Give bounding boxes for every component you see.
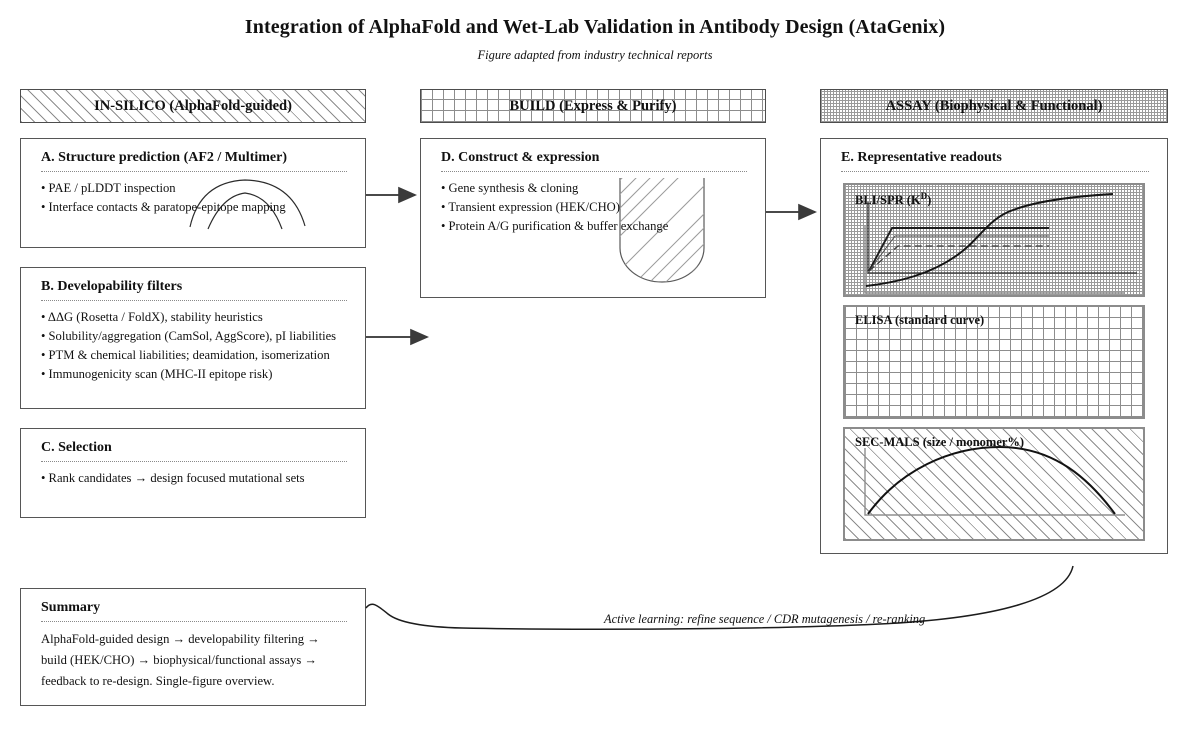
panel-a-title: A. Structure prediction (AF2 / Multimer) — [41, 150, 287, 166]
panel-c-bullet-0: • Rank candidates → design focused mutat… — [41, 469, 305, 488]
panel-a-bullet-1: • Interface contacts & paratope-epitope … — [41, 198, 286, 217]
panel-c-divider — [41, 461, 347, 462]
column-header-assay-label: ASSAY (Biophysical & Functional) — [882, 98, 1107, 115]
column-header-in-silico: IN-SILICO (AlphaFold-guided) — [20, 89, 366, 123]
panel-d-bullet-list: • Gene synthesis & cloning • Transient e… — [441, 179, 668, 236]
panel-e-representative-readouts: E. Representative readouts BLI/SPR (KD) … — [820, 138, 1168, 554]
figure-subtitle: Figure adapted from industry technical r… — [0, 48, 1190, 63]
readout-sec-mals-title: SEC-MALS (size / monomer%) — [855, 435, 1024, 450]
panel-summary-divider — [41, 621, 347, 622]
panel-b-bullet-list: • ΔΔG (Rosetta / FoldX), stability heuri… — [41, 308, 336, 384]
column-header-in-silico-label: IN-SILICO (AlphaFold-guided) — [90, 98, 296, 115]
panel-a-divider — [41, 171, 347, 172]
readout-bli-spr-title: BLI/SPR (KD) — [855, 191, 931, 208]
panel-summary-text: AlphaFold-guided design → developability… — [41, 629, 320, 692]
panel-summary-line-2: feedback to re-design. Single-figure ove… — [41, 671, 320, 692]
panel-b-title: B. Developability filters — [41, 279, 182, 295]
column-header-build-label: BUILD (Express & Purify) — [506, 98, 681, 115]
column-header-build: BUILD (Express & Purify) — [420, 89, 766, 123]
panel-d-title: D. Construct & expression — [441, 150, 599, 166]
panel-b-bullet-0: • ΔΔG (Rosetta / FoldX), stability heuri… — [41, 308, 336, 327]
panel-a-bullet-0: • PAE / pLDDT inspection — [41, 179, 286, 198]
panel-d-bullet-0: • Gene synthesis & cloning — [441, 179, 668, 198]
panel-c-bullet-list: • Rank candidates → design focused mutat… — [41, 469, 305, 488]
readout-sec-mals: SEC-MALS (size / monomer%) — [843, 427, 1145, 541]
panel-summary-line-1: build (HEK/CHO) → biophysical/functional… — [41, 650, 320, 671]
readout-elisa-title: ELISA (standard curve) — [855, 313, 984, 328]
feedback-loop-label: Active learning: refine sequence / CDR m… — [604, 612, 925, 627]
panel-b-bullet-3: • Immunogenicity scan (MHC-II epitope ri… — [41, 365, 336, 384]
panel-c-title: C. Selection — [41, 440, 112, 456]
panel-b-bullet-1: • Solubility/aggregation (CamSol, AggSco… — [41, 327, 336, 346]
panel-summary-line-0: AlphaFold-guided design → developability… — [41, 629, 320, 650]
panel-b-bullet-2: • PTM & chemical liabilities; deamidatio… — [41, 346, 336, 365]
panel-b-divider — [41, 300, 347, 301]
readout-bli-spr: BLI/SPR (KD) — [843, 183, 1145, 297]
panel-e-divider — [841, 171, 1149, 172]
panel-d-divider — [441, 171, 747, 172]
panel-e-title: E. Representative readouts — [841, 150, 1002, 166]
panel-a-structure-prediction: A. Structure prediction (AF2 / Multimer)… — [20, 138, 366, 248]
panel-b-developability-filters: B. Developability filters • ΔΔG (Rosetta… — [20, 267, 366, 409]
readout-elisa: ELISA (standard curve) — [843, 305, 1145, 419]
column-header-assay: ASSAY (Biophysical & Functional) — [820, 89, 1168, 123]
figure-title: Integration of AlphaFold and Wet-Lab Val… — [0, 16, 1190, 39]
panel-d-bullet-1: • Transient expression (HEK/CHO) — [441, 198, 668, 217]
panel-summary: Summary AlphaFold-guided design → develo… — [20, 588, 366, 706]
panel-d-construct-expression: D. Construct & expression • Gene synthes… — [420, 138, 766, 298]
panel-summary-title: Summary — [41, 600, 100, 616]
panel-d-bullet-2: • Protein A/G purification & buffer exch… — [441, 217, 668, 236]
panel-a-bullet-list: • PAE / pLDDT inspection • Interface con… — [41, 179, 286, 217]
panel-c-selection: C. Selection • Rank candidates → design … — [20, 428, 366, 518]
